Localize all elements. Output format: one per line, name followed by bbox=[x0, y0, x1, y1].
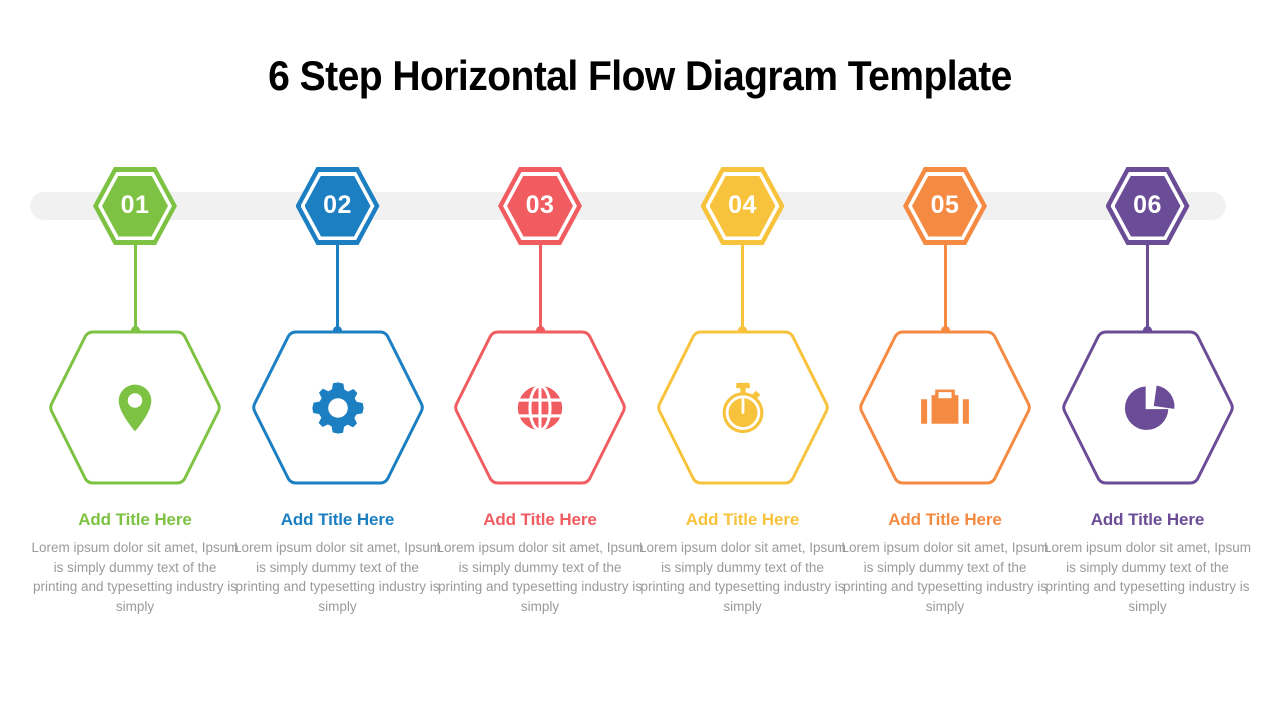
step-connector-line bbox=[944, 245, 947, 331]
step-icon-hexagon-02[interactable] bbox=[250, 329, 426, 486]
step-title: Add Title Here bbox=[844, 510, 1046, 530]
step-description: Lorem ipsum dolor sit amet, Ipsum is sim… bbox=[1043, 538, 1253, 616]
step-number-label: 01 bbox=[93, 167, 177, 245]
step-number-badge-05[interactable]: 05 bbox=[903, 167, 987, 245]
step-description: Lorem ipsum dolor sit amet, Ipsum is sim… bbox=[840, 538, 1050, 616]
step-title: Add Title Here bbox=[237, 510, 439, 530]
step-connector-line bbox=[134, 245, 137, 331]
step-icon-hexagon-01[interactable] bbox=[47, 329, 223, 486]
step-title: Add Title Here bbox=[34, 510, 236, 530]
location-pin-icon bbox=[47, 329, 223, 486]
step-number-label: 02 bbox=[296, 167, 380, 245]
pie-chart-icon bbox=[1060, 329, 1236, 486]
step-description: Lorem ipsum dolor sit amet, Ipsum is sim… bbox=[435, 538, 645, 616]
step-number-label: 03 bbox=[498, 167, 582, 245]
step-number-badge-02[interactable]: 02 bbox=[296, 167, 380, 245]
steps-container: 01Add Title HereLorem ipsum dolor sit am… bbox=[0, 0, 1280, 720]
slide-canvas: 6 Step Horizontal Flow Diagram Template … bbox=[0, 0, 1280, 720]
step-icon-hexagon-03[interactable] bbox=[452, 329, 628, 486]
step-connector-line bbox=[539, 245, 542, 331]
step-icon-hexagon-04[interactable] bbox=[655, 329, 831, 486]
step-connector-line bbox=[1146, 245, 1149, 331]
step-number-label: 05 bbox=[903, 167, 987, 245]
step-icon-hexagon-06[interactable] bbox=[1060, 329, 1236, 486]
step-icon-hexagon-05[interactable] bbox=[857, 329, 1033, 486]
step-title: Add Title Here bbox=[642, 510, 844, 530]
step-number-label: 04 bbox=[701, 167, 785, 245]
step-description: Lorem ipsum dolor sit amet, Ipsum is sim… bbox=[638, 538, 848, 616]
step-number-badge-04[interactable]: 04 bbox=[701, 167, 785, 245]
gear-icon bbox=[250, 329, 426, 486]
step-number-badge-03[interactable]: 03 bbox=[498, 167, 582, 245]
step-number-label: 06 bbox=[1106, 167, 1190, 245]
stopwatch-icon bbox=[655, 329, 831, 486]
step-connector-line bbox=[336, 245, 339, 331]
globe-icon bbox=[452, 329, 628, 486]
step-title: Add Title Here bbox=[439, 510, 641, 530]
step-connector-line bbox=[741, 245, 744, 331]
step-description: Lorem ipsum dolor sit amet, Ipsum is sim… bbox=[30, 538, 240, 616]
step-description: Lorem ipsum dolor sit amet, Ipsum is sim… bbox=[233, 538, 443, 616]
step-title: Add Title Here bbox=[1047, 510, 1249, 530]
step-number-badge-01[interactable]: 01 bbox=[93, 167, 177, 245]
step-number-badge-06[interactable]: 06 bbox=[1106, 167, 1190, 245]
briefcase-icon bbox=[857, 329, 1033, 486]
